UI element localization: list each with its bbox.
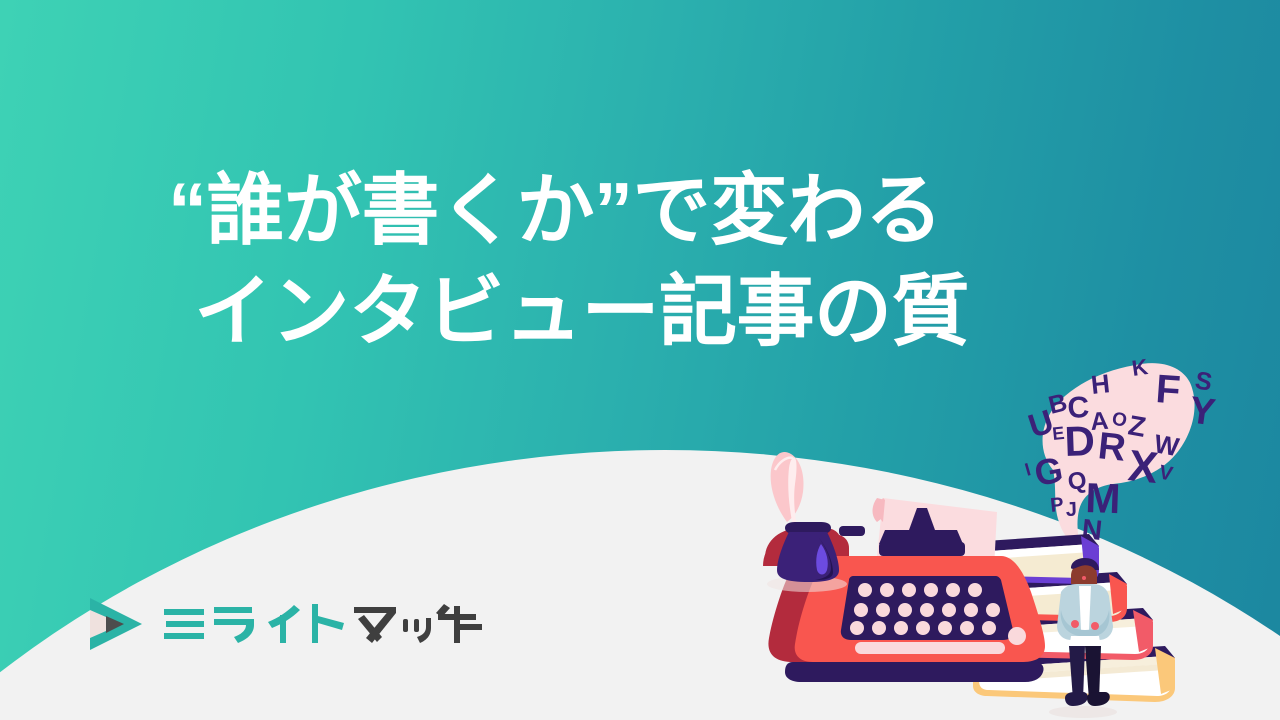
quill-pen-icon	[771, 452, 804, 526]
svg-text:Y: Y	[1187, 389, 1218, 434]
typewriter-books-letters-illustration: K H F S Y B C A O Z U E D R W X V	[735, 330, 1280, 720]
svg-text:K: K	[1130, 354, 1149, 381]
hero-slide: K H F S Y B C A O Z U E D R W X V	[0, 0, 1280, 720]
headline-line-2: インタビュー記事の質	[168, 261, 1068, 362]
svg-text:P: P	[1049, 494, 1065, 517]
svg-text:X: X	[1126, 441, 1160, 493]
svg-text:J: J	[1065, 499, 1077, 521]
headline-line-1: “誰が書くか”で変わる	[168, 160, 1068, 261]
svg-text:I: I	[1023, 459, 1033, 480]
svg-text:H: H	[1089, 368, 1111, 400]
svg-text:R: R	[1096, 425, 1128, 470]
play-arrow-mark-icon	[84, 592, 148, 656]
brand-logo[interactable]: ミライトマッチ	[84, 592, 482, 656]
brand-wordmark-icon	[162, 602, 482, 646]
svg-text:D: D	[1064, 417, 1096, 465]
svg-text:F: F	[1154, 367, 1181, 413]
page-title: “誰が書くか”で変わる インタビュー記事の質	[168, 160, 1068, 363]
